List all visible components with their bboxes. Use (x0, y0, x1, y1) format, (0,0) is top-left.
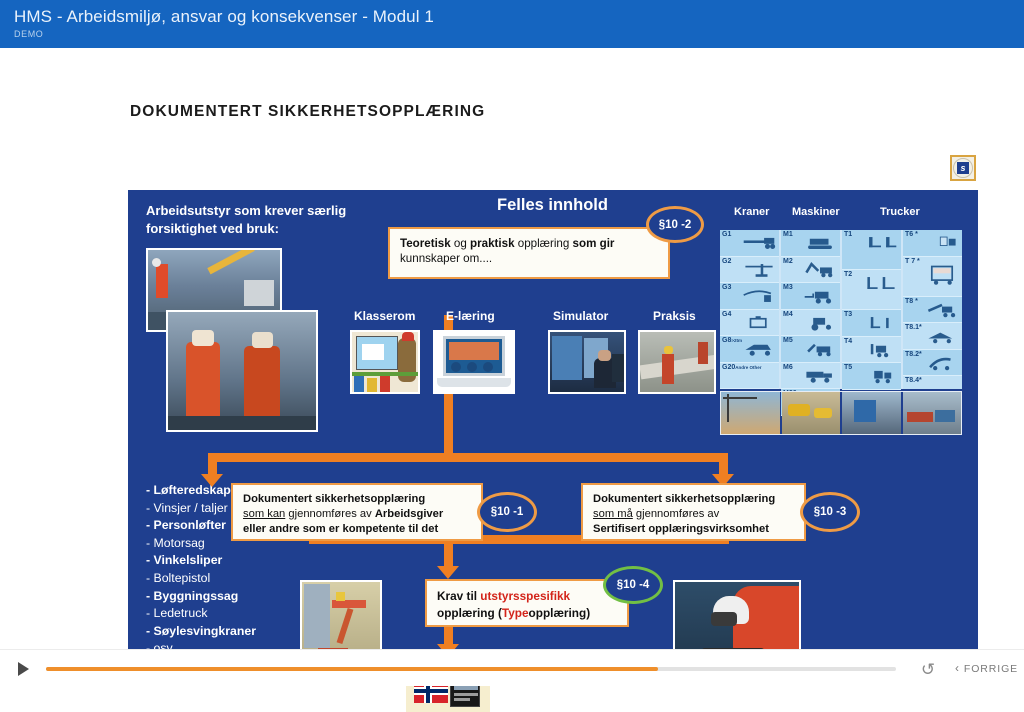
photo-container-terminal (903, 392, 962, 434)
progress-track[interactable] (46, 667, 896, 671)
eq-cell: M2 (781, 257, 840, 284)
eq-heading-maskiner: Maskiner (792, 206, 840, 218)
equipment-grid: G1 G2 G3 G4 G8>2tm G20Andre Other M1 (720, 230, 962, 389)
progress-fill (46, 667, 658, 671)
eq-cell: T4 (842, 337, 901, 364)
doc-right-rest: gjennomføres av (633, 508, 719, 520)
dozer-icon (803, 235, 837, 251)
badge-paragraph-10-1: §10 -1 (477, 492, 537, 532)
eq-code: M3 (783, 284, 793, 291)
logo-letter: s (957, 162, 969, 174)
method-label-praksis: Praksis (653, 309, 696, 323)
list-item: - Søylesvingkraner (146, 623, 326, 641)
eq-cell: G3 (720, 283, 779, 310)
felles-innhold-title: Felles innhold (440, 196, 665, 215)
doc-left-line2: som kan gjennomføres av Arbeidsgiver (243, 507, 471, 522)
truck-crane-icon (742, 341, 776, 357)
pallet-truck-icon (864, 235, 898, 251)
photo-elaering (433, 330, 515, 394)
replay-icon[interactable]: ↺ (918, 660, 938, 680)
previous-label: FORRIGE (964, 663, 1018, 675)
eq-column-maskiner: M1 M2 M3 M4 M5 M6 M20Andre Other (781, 230, 840, 389)
eq-cell: T5 (842, 363, 901, 390)
platform-truck-icon (925, 262, 959, 288)
bridge-crane-icon (742, 315, 776, 331)
eq-cell: M3 (781, 283, 840, 310)
eq-cell: T2 (842, 270, 901, 310)
eq-code: T8.2* (905, 351, 922, 358)
list-item: - Ledetruck (146, 605, 326, 623)
method-label-simulator: Simulator (553, 309, 608, 323)
doc-left-underline: som kan (243, 508, 285, 520)
eq-code: T8 * (905, 298, 918, 305)
callout-krav-til: Krav til utstyrsspesifikk opplæring (Typ… (425, 579, 629, 627)
order-picker-icon (925, 235, 959, 251)
chevron-left-icon: ‹ (955, 661, 960, 675)
eq-cell: T1 (842, 230, 901, 270)
method-label-klasserom: Klasserom (354, 309, 415, 323)
list-item: - Vinkelsliper (146, 552, 326, 570)
teoretisk-part-4: som gir (573, 237, 615, 250)
eq-cell: T8.2* (903, 350, 962, 377)
teoretisk-part-0: Teoretisk (400, 237, 454, 250)
photo-simulator (548, 330, 626, 394)
eq-code: T6 * (905, 231, 918, 238)
eq-code: T 7 * (905, 258, 920, 265)
boom-lift-icon (925, 355, 959, 371)
eq-cell: M6 (781, 363, 840, 390)
photo-yellow-machines (782, 392, 841, 434)
badge-label: §10 -2 (659, 219, 692, 231)
reach-truck-icon (864, 315, 898, 331)
portal-crane-icon (742, 288, 776, 304)
eq-code: G20 (722, 364, 735, 371)
list-item: - Boltepistol (146, 570, 326, 588)
connector-drop-left (208, 453, 217, 475)
sideloader-icon (864, 368, 898, 384)
photo-workers-orange (166, 310, 318, 432)
eq-code: T2 (844, 271, 852, 278)
connector-drop-right (719, 453, 728, 475)
krav-line1: Krav til utstyrsspesifikk (437, 588, 617, 605)
krav-p5: opplæring) (529, 606, 591, 620)
mobile-crane-icon (742, 235, 776, 251)
krav-p3: opplæring ( (437, 606, 502, 620)
photo-praksis (638, 330, 716, 394)
slide-stage: DOKUMENTERT SIKKERHETSOPPLÆRING s Arbeid… (0, 48, 1024, 649)
dump-truck-icon (803, 368, 837, 384)
tractor-icon (803, 315, 837, 331)
eq-code: G2 (722, 258, 731, 265)
excavator-icon (803, 262, 837, 278)
player-bar: ↺ ‹FORRIGE (0, 649, 1024, 686)
doc-left-line3: eller andre som er kompetente til det (243, 522, 471, 537)
eq-cell: G8>2tm (720, 336, 779, 363)
eq-note: >2tm (731, 338, 742, 343)
eq-code: G3 (722, 284, 731, 291)
eq-code: M5 (783, 337, 793, 344)
course-title: HMS - Arbeidsmiljø, ansvar og konsekvens… (14, 6, 1010, 28)
eq-heading-trucker: Trucker (880, 206, 920, 218)
krav-red-1: utstyrsspesifikk (480, 589, 570, 603)
eq-cell: G4 (720, 310, 779, 337)
callout-doc-sertifisert: Dokumentert sikkerhetsopplæring som må g… (581, 483, 806, 541)
loader-icon (803, 288, 837, 304)
eq-code: G8 (722, 337, 731, 344)
eq-cell: T8 * (903, 297, 962, 324)
eq-cell: G1 (720, 230, 779, 257)
eq-note: Andre Other (735, 365, 761, 370)
app-header: HMS - Arbeidsmiljø, ansvar og konsekvens… (0, 0, 1024, 48)
doc-right-line1: Dokumentert sikkerhetsopplæring (593, 492, 794, 507)
eq-cell: M4 (781, 310, 840, 337)
eq-code: G4 (722, 311, 731, 318)
eq-code: M6 (783, 364, 793, 371)
play-button[interactable] (18, 662, 29, 676)
arrowhead-left (201, 474, 223, 487)
badge-paragraph-10-2: §10 -2 (646, 206, 704, 243)
eq-code: T1 (844, 231, 852, 238)
eq-cell: T6 * (903, 230, 962, 257)
doc-right-line2: som må gjennomføres av (593, 507, 794, 522)
backhoe-icon (803, 341, 837, 357)
eq-code: T8.1* (905, 324, 922, 331)
badge-paragraph-10-3: §10 -3 (800, 492, 860, 532)
teoretisk-part-3: opplæring (518, 237, 573, 250)
eq-code: M4 (783, 311, 793, 318)
teoretisk-part-5: kunnskaper om.... (400, 252, 492, 265)
teoretisk-part-2: praktisk (470, 237, 518, 250)
eq-code: T3 (844, 311, 852, 318)
eq-cell: M5 (781, 336, 840, 363)
stacker-icon (864, 275, 898, 291)
terrain-truck-icon (925, 328, 959, 344)
logo-ring: s (953, 158, 973, 178)
photo-warehouse-truck (842, 392, 901, 434)
eq-column-trucker-a: T1 T2 T3 T4 T5 (842, 230, 901, 389)
slide: DOKUMENTERT SIKKERHETSOPPLÆRING s Arbeid… (12, 81, 1012, 649)
eq-column-trucker-b: T6 * T 7 * T8 * T8.1* T8.2* T8.4* T20And… (903, 230, 962, 389)
tower-crane-icon (742, 262, 776, 278)
eq-code: T5 (844, 364, 852, 371)
eq-heading-kraner: Kraner (734, 206, 769, 218)
equipment-photo-strip (720, 391, 962, 435)
badge-label: §10 -4 (617, 579, 650, 591)
eq-column-kraner: G1 G2 G3 G4 G8>2tm G20Andre Other (720, 230, 779, 389)
counterbalance-truck-icon (864, 342, 898, 358)
krav-line2: opplæring (Typeopplæring) (437, 605, 617, 622)
doc-left-bold: Arbeidsgiver (375, 508, 443, 520)
photo-klasserom (350, 330, 420, 394)
diagram-panel: Arbeidsutstyr som krever særlig forsikti… (128, 190, 978, 678)
slide-title: DOKUMENTERT SIKKERHETSOPPLÆRING (130, 103, 485, 121)
badge-label: §10 -1 (491, 506, 524, 518)
connector-stem-manual (444, 627, 453, 645)
telehandler-icon (925, 302, 959, 318)
callout-teoretisk: Teoretisk og praktisk opplæring som gir … (388, 227, 670, 279)
callout-doc-arbeidsgiver: Dokumentert sikkerhetsopplæring som kan … (231, 483, 483, 541)
eq-cell: T3 (842, 310, 901, 337)
krav-p1: Krav til (437, 589, 480, 603)
doc-left-rest: gjennomføres av (285, 508, 375, 520)
teoretisk-part-1: og (454, 237, 470, 250)
list-item: - Byggningssag (146, 588, 326, 606)
doc-right-underline: som må (593, 508, 633, 520)
arrowhead-center (437, 566, 459, 579)
eq-code: M2 (783, 258, 793, 265)
doc-right-line3: Sertifisert opplæringsvirksomhet (593, 522, 794, 537)
course-subtitle: DEMO (14, 29, 1010, 39)
photo-crane-site (721, 392, 780, 434)
left-heading: Arbeidsutstyr som krever særlig forsikti… (146, 202, 376, 238)
eq-cell: G2 (720, 257, 779, 284)
previous-button[interactable]: ‹FORRIGE (955, 661, 1018, 675)
doc-left-line1: Dokumentert sikkerhetsopplæring (243, 492, 471, 507)
brand-logo: s (950, 155, 976, 181)
eq-code: T4 (844, 338, 852, 345)
method-label-elaering: E-læring (446, 309, 495, 323)
connector-bar-top (208, 453, 728, 462)
eq-code: G1 (722, 231, 731, 238)
eq-cell: M1 (781, 230, 840, 257)
badge-label: §10 -3 (814, 506, 847, 518)
eq-cell: T 7 * (903, 257, 962, 297)
krav-red-2: Type (502, 606, 529, 620)
eq-code: M1 (783, 231, 793, 238)
badge-paragraph-10-4: §10 -4 (603, 566, 663, 604)
eq-code: T8.4* (905, 377, 922, 384)
eq-cell: T8.1* (903, 323, 962, 350)
eq-cell: G20Andre Other (720, 363, 779, 390)
